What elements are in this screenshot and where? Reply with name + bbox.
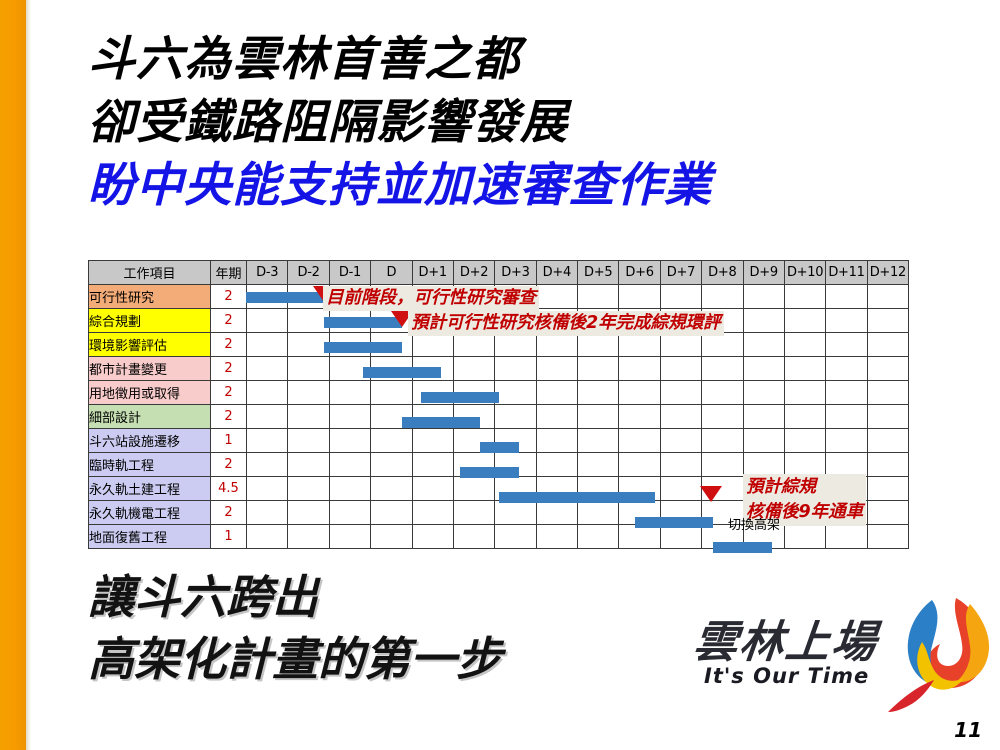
cell-r6-c9 bbox=[619, 429, 660, 453]
cell-r3-c12 bbox=[743, 357, 784, 381]
table-row: 地面復舊工程1 bbox=[89, 525, 909, 549]
cell-r8-c11 bbox=[702, 477, 743, 501]
cell-r9-c14 bbox=[826, 501, 867, 525]
cell-r3-c14 bbox=[826, 357, 867, 381]
column-header-period-4: D+1 bbox=[412, 261, 453, 285]
cell-r0-c4 bbox=[412, 285, 453, 309]
cell-r9-c9 bbox=[619, 501, 660, 525]
cell-r6-c3 bbox=[371, 429, 412, 453]
cell-r9-c0 bbox=[247, 501, 288, 525]
cell-r1-c15 bbox=[867, 309, 908, 333]
cell-r9-c11 bbox=[702, 501, 743, 525]
cell-r9-c4 bbox=[412, 501, 453, 525]
cell-r0-c5 bbox=[453, 285, 494, 309]
cell-r1-c11 bbox=[702, 309, 743, 333]
headline-line-2: 卻受鐵路阻隔影響發展 bbox=[88, 91, 948, 154]
column-header-period-2: D-1 bbox=[329, 261, 370, 285]
cell-r1-c10 bbox=[660, 309, 701, 333]
cell-r5-c2 bbox=[329, 405, 370, 429]
cell-r9-c5 bbox=[453, 501, 494, 525]
cell-r2-c4 bbox=[412, 333, 453, 357]
cell-r3-c5 bbox=[453, 357, 494, 381]
table-row: 細部設計2 bbox=[89, 405, 909, 429]
cell-r5-c1 bbox=[288, 405, 329, 429]
cell-r6-c11 bbox=[702, 429, 743, 453]
table-row: 環境影響評估2 bbox=[89, 333, 909, 357]
cell-r4-c11 bbox=[702, 381, 743, 405]
cell-r4-c5 bbox=[453, 381, 494, 405]
cell-r10-c3 bbox=[371, 525, 412, 549]
table-row: 永久軌土建工程4.5 bbox=[89, 477, 909, 501]
cell-r5-c5 bbox=[453, 405, 494, 429]
task-name-3: 都市計畫變更 bbox=[89, 357, 211, 381]
cell-r1-c2 bbox=[329, 309, 370, 333]
bottom-headline-block: 讓斗六跨出 高架化計畫的第一步 bbox=[88, 566, 708, 690]
cell-r8-c9 bbox=[619, 477, 660, 501]
cell-r2-c6 bbox=[495, 333, 536, 357]
cell-r4-c2 bbox=[329, 381, 370, 405]
cell-r0-c3 bbox=[371, 285, 412, 309]
task-years-0: 2 bbox=[211, 285, 247, 309]
cell-r10-c5 bbox=[453, 525, 494, 549]
cell-r5-c15 bbox=[867, 405, 908, 429]
cell-r9-c2 bbox=[329, 501, 370, 525]
cell-r3-c6 bbox=[495, 357, 536, 381]
cell-r0-c6 bbox=[495, 285, 536, 309]
cell-r4-c14 bbox=[826, 381, 867, 405]
cell-r2-c9 bbox=[619, 333, 660, 357]
cell-r10-c12 bbox=[743, 525, 784, 549]
cell-r8-c4 bbox=[412, 477, 453, 501]
logo: 雲林上場 It's Our Time bbox=[690, 598, 990, 728]
cell-r6-c12 bbox=[743, 429, 784, 453]
cell-r10-c7 bbox=[536, 525, 577, 549]
cell-r3-c11 bbox=[702, 357, 743, 381]
cell-r0-c1 bbox=[288, 285, 329, 309]
cell-r2-c8 bbox=[578, 333, 619, 357]
cell-r2-c2 bbox=[329, 333, 370, 357]
task-years-10: 1 bbox=[211, 525, 247, 549]
headline-line-3: 盼中央能支持並加速審查作業 bbox=[88, 154, 948, 217]
table-row: 臨時軌工程2 bbox=[89, 453, 909, 477]
cell-r7-c1 bbox=[288, 453, 329, 477]
table-row: 都市計畫變更2 bbox=[89, 357, 909, 381]
cell-r6-c2 bbox=[329, 429, 370, 453]
cell-r5-c10 bbox=[660, 405, 701, 429]
cell-r1-c1 bbox=[288, 309, 329, 333]
cell-r7-c14 bbox=[826, 453, 867, 477]
logo-tagline: It's Our Time bbox=[704, 664, 869, 688]
cell-r8-c3 bbox=[371, 477, 412, 501]
cell-r4-c6 bbox=[495, 381, 536, 405]
cell-r9-c10 bbox=[660, 501, 701, 525]
cell-r2-c13 bbox=[784, 333, 825, 357]
cell-r10-c11 bbox=[702, 525, 743, 549]
task-years-6: 1 bbox=[211, 429, 247, 453]
cell-r4-c4 bbox=[412, 381, 453, 405]
task-name-9: 永久軌機電工程 bbox=[89, 501, 211, 525]
cell-r7-c2 bbox=[329, 453, 370, 477]
cell-r2-c11 bbox=[702, 333, 743, 357]
cell-r5-c12 bbox=[743, 405, 784, 429]
cell-r4-c9 bbox=[619, 381, 660, 405]
cell-r6-c0 bbox=[247, 429, 288, 453]
cell-r10-c13 bbox=[784, 525, 825, 549]
task-years-5: 2 bbox=[211, 405, 247, 429]
cell-r3-c0 bbox=[247, 357, 288, 381]
task-name-6: 斗六站設施遷移 bbox=[89, 429, 211, 453]
cell-r8-c8 bbox=[578, 477, 619, 501]
cell-r7-c8 bbox=[578, 453, 619, 477]
cell-r8-c0 bbox=[247, 477, 288, 501]
cell-r5-c3 bbox=[371, 405, 412, 429]
cell-r8-c14 bbox=[826, 477, 867, 501]
cell-r1-c4 bbox=[412, 309, 453, 333]
column-header-period-13: D+10 bbox=[784, 261, 825, 285]
cell-r0-c2 bbox=[329, 285, 370, 309]
table-row: 綜合規劃2 bbox=[89, 309, 909, 333]
column-header-period-11: D+8 bbox=[702, 261, 743, 285]
task-name-5: 細部設計 bbox=[89, 405, 211, 429]
cell-r1-c13 bbox=[784, 309, 825, 333]
bottom-headline-line-1: 讓斗六跨出 bbox=[88, 566, 708, 628]
cell-r1-c14 bbox=[826, 309, 867, 333]
cell-r2-c5 bbox=[453, 333, 494, 357]
task-years-3: 2 bbox=[211, 357, 247, 381]
cell-r0-c13 bbox=[784, 285, 825, 309]
cell-r2-c14 bbox=[826, 333, 867, 357]
cell-r8-c12 bbox=[743, 477, 784, 501]
cell-r10-c0 bbox=[247, 525, 288, 549]
cell-r1-c8 bbox=[578, 309, 619, 333]
task-name-10: 地面復舊工程 bbox=[89, 525, 211, 549]
cell-r10-c14 bbox=[826, 525, 867, 549]
task-years-4: 2 bbox=[211, 381, 247, 405]
task-years-1: 2 bbox=[211, 309, 247, 333]
cell-r7-c9 bbox=[619, 453, 660, 477]
cell-r7-c0 bbox=[247, 453, 288, 477]
cell-r2-c12 bbox=[743, 333, 784, 357]
task-name-1: 綜合規劃 bbox=[89, 309, 211, 333]
column-header-period-12: D+9 bbox=[743, 261, 784, 285]
cell-r3-c2 bbox=[329, 357, 370, 381]
cell-r3-c15 bbox=[867, 357, 908, 381]
cell-r0-c14 bbox=[826, 285, 867, 309]
cell-r7-c12 bbox=[743, 453, 784, 477]
table-row: 用地徵用或取得2 bbox=[89, 381, 909, 405]
cell-r6-c14 bbox=[826, 429, 867, 453]
cell-r4-c13 bbox=[784, 381, 825, 405]
cell-r6-c6 bbox=[495, 429, 536, 453]
cell-r10-c10 bbox=[660, 525, 701, 549]
gantt-header-row: 工作項目 年期 D-3D-2D-1DD+1D+2D+3D+4D+5D+6D+7D… bbox=[89, 261, 909, 285]
column-header-period-7: D+4 bbox=[536, 261, 577, 285]
cell-r6-c4 bbox=[412, 429, 453, 453]
column-header-period-3: D bbox=[371, 261, 412, 285]
cell-r8-c2 bbox=[329, 477, 370, 501]
task-years-7: 2 bbox=[211, 453, 247, 477]
cell-r3-c13 bbox=[784, 357, 825, 381]
cell-r2-c0 bbox=[247, 333, 288, 357]
cell-r1-c6 bbox=[495, 309, 536, 333]
cell-r9-c7 bbox=[536, 501, 577, 525]
cell-r1-c12 bbox=[743, 309, 784, 333]
cell-r5-c9 bbox=[619, 405, 660, 429]
cell-r10-c15 bbox=[867, 525, 908, 549]
cell-r2-c3 bbox=[371, 333, 412, 357]
cell-r9-c6 bbox=[495, 501, 536, 525]
task-years-8: 4.5 bbox=[211, 477, 247, 501]
cell-r0-c11 bbox=[702, 285, 743, 309]
cell-r3-c3 bbox=[371, 357, 412, 381]
cell-r4-c3 bbox=[371, 381, 412, 405]
cell-r6-c15 bbox=[867, 429, 908, 453]
cell-r3-c10 bbox=[660, 357, 701, 381]
cell-r10-c9 bbox=[619, 525, 660, 549]
cell-r8-c10 bbox=[660, 477, 701, 501]
task-name-2: 環境影響評估 bbox=[89, 333, 211, 357]
cell-r10-c1 bbox=[288, 525, 329, 549]
headline-block: 斗六為雲林首善之都 卻受鐵路阻隔影響發展 盼中央能支持並加速審查作業 bbox=[88, 28, 948, 217]
headline-line-1: 斗六為雲林首善之都 bbox=[88, 28, 948, 91]
gantt-table: 工作項目 年期 D-3D-2D-1DD+1D+2D+3D+4D+5D+6D+7D… bbox=[88, 260, 909, 549]
cell-r7-c6 bbox=[495, 453, 536, 477]
cell-r4-c7 bbox=[536, 381, 577, 405]
task-name-8: 永久軌土建工程 bbox=[89, 477, 211, 501]
cell-r4-c12 bbox=[743, 381, 784, 405]
cell-r5-c14 bbox=[826, 405, 867, 429]
cell-r0-c9 bbox=[619, 285, 660, 309]
cell-r6-c8 bbox=[578, 429, 619, 453]
table-row: 斗六站設施遷移1 bbox=[89, 429, 909, 453]
cell-r3-c9 bbox=[619, 357, 660, 381]
flame-bird-emblem bbox=[886, 594, 994, 714]
column-header-period-15: D+12 bbox=[867, 261, 908, 285]
cell-r9-c1 bbox=[288, 501, 329, 525]
column-header-period-9: D+6 bbox=[619, 261, 660, 285]
task-years-2: 2 bbox=[211, 333, 247, 357]
cell-r6-c7 bbox=[536, 429, 577, 453]
cell-r2-c15 bbox=[867, 333, 908, 357]
cell-r0-c0 bbox=[247, 285, 288, 309]
left-accent-bar-shadow bbox=[26, 0, 31, 750]
cell-r1-c3 bbox=[371, 309, 412, 333]
cell-r3-c8 bbox=[578, 357, 619, 381]
cell-r9-c8 bbox=[578, 501, 619, 525]
cell-r4-c10 bbox=[660, 381, 701, 405]
task-name-0: 可行性研究 bbox=[89, 285, 211, 309]
task-name-4: 用地徵用或取得 bbox=[89, 381, 211, 405]
cell-r1-c0 bbox=[247, 309, 288, 333]
column-header-period-0: D-3 bbox=[247, 261, 288, 285]
cell-r7-c5 bbox=[453, 453, 494, 477]
cell-r0-c10 bbox=[660, 285, 701, 309]
cell-r6-c5 bbox=[453, 429, 494, 453]
cell-r2-c10 bbox=[660, 333, 701, 357]
cell-r8-c13 bbox=[784, 477, 825, 501]
logo-wordmark: 雲林上場 bbox=[691, 606, 882, 670]
cell-r5-c6 bbox=[495, 405, 536, 429]
task-years-9: 2 bbox=[211, 501, 247, 525]
cell-r8-c5 bbox=[453, 477, 494, 501]
cell-r0-c12 bbox=[743, 285, 784, 309]
cell-r8-c1 bbox=[288, 477, 329, 501]
cell-r7-c10 bbox=[660, 453, 701, 477]
cell-r1-c7 bbox=[536, 309, 577, 333]
cell-r2-c7 bbox=[536, 333, 577, 357]
column-header-period-6: D+3 bbox=[495, 261, 536, 285]
column-header-task: 工作項目 bbox=[89, 261, 211, 285]
cell-r5-c4 bbox=[412, 405, 453, 429]
cell-r10-c6 bbox=[495, 525, 536, 549]
cell-r4-c15 bbox=[867, 381, 908, 405]
task-name-7: 臨時軌工程 bbox=[89, 453, 211, 477]
cell-r5-c0 bbox=[247, 405, 288, 429]
cell-r1-c9 bbox=[619, 309, 660, 333]
gantt-chart: 工作項目 年期 D-3D-2D-1DD+1D+2D+3D+4D+5D+6D+7D… bbox=[88, 260, 908, 549]
bottom-headline-line-2: 高架化計畫的第一步 bbox=[88, 628, 708, 690]
column-header-period-14: D+11 bbox=[826, 261, 867, 285]
cell-r8-c15 bbox=[867, 477, 908, 501]
cell-r4-c0 bbox=[247, 381, 288, 405]
cell-r2-c1 bbox=[288, 333, 329, 357]
cell-r7-c13 bbox=[784, 453, 825, 477]
cell-r5-c13 bbox=[784, 405, 825, 429]
cell-r7-c3 bbox=[371, 453, 412, 477]
cell-r5-c11 bbox=[702, 405, 743, 429]
column-header-years: 年期 bbox=[211, 261, 247, 285]
cell-r3-c1 bbox=[288, 357, 329, 381]
cell-r9-c15 bbox=[867, 501, 908, 525]
cell-r10-c8 bbox=[578, 525, 619, 549]
cell-r7-c15 bbox=[867, 453, 908, 477]
cell-r0-c7 bbox=[536, 285, 577, 309]
cell-r9-c13 bbox=[784, 501, 825, 525]
cell-r3-c7 bbox=[536, 357, 577, 381]
cell-r10-c4 bbox=[412, 525, 453, 549]
column-header-period-1: D-2 bbox=[288, 261, 329, 285]
cell-r0-c8 bbox=[578, 285, 619, 309]
cell-r9-c3 bbox=[371, 501, 412, 525]
column-header-period-5: D+2 bbox=[453, 261, 494, 285]
table-row: 永久軌機電工程2 bbox=[89, 501, 909, 525]
cell-r6-c13 bbox=[784, 429, 825, 453]
cell-r6-c10 bbox=[660, 429, 701, 453]
page-number: 11 bbox=[954, 718, 982, 742]
cell-r10-c2 bbox=[329, 525, 370, 549]
cell-r7-c7 bbox=[536, 453, 577, 477]
cell-r0-c15 bbox=[867, 285, 908, 309]
cell-r8-c6 bbox=[495, 477, 536, 501]
cell-r9-c12 bbox=[743, 501, 784, 525]
column-header-period-10: D+7 bbox=[660, 261, 701, 285]
cell-r4-c1 bbox=[288, 381, 329, 405]
table-row: 可行性研究2 bbox=[89, 285, 909, 309]
left-accent-bar bbox=[0, 0, 26, 750]
cell-r7-c11 bbox=[702, 453, 743, 477]
column-header-period-8: D+5 bbox=[578, 261, 619, 285]
cell-r5-c8 bbox=[578, 405, 619, 429]
cell-r6-c1 bbox=[288, 429, 329, 453]
cell-r5-c7 bbox=[536, 405, 577, 429]
cell-r7-c4 bbox=[412, 453, 453, 477]
cell-r3-c4 bbox=[412, 357, 453, 381]
cell-r1-c5 bbox=[453, 309, 494, 333]
cell-r8-c7 bbox=[536, 477, 577, 501]
cell-r4-c8 bbox=[578, 381, 619, 405]
